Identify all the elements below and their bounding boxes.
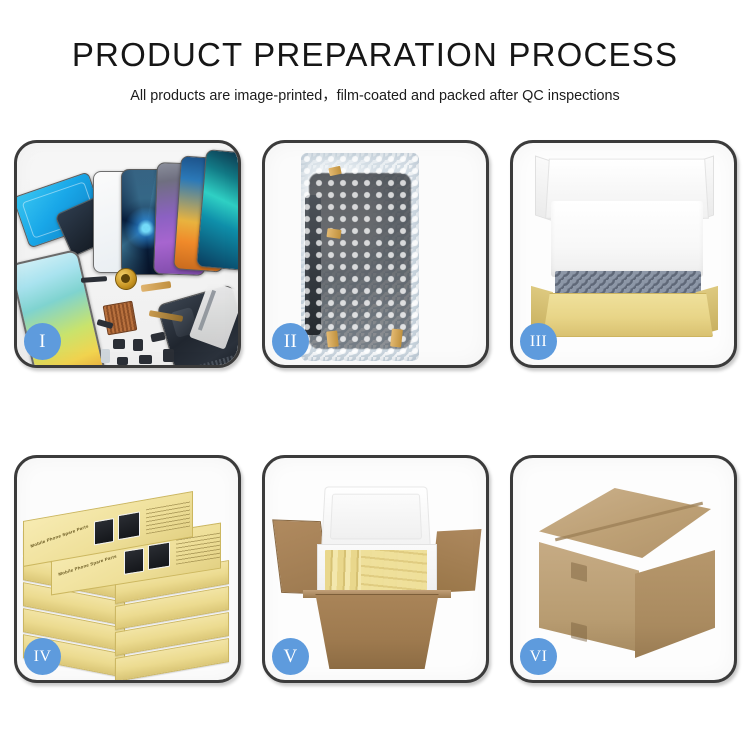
step-card-6: VI	[510, 455, 737, 683]
step-badge-3: III	[520, 323, 557, 360]
step-badge-6: VI	[520, 638, 557, 675]
kraft-box-front	[543, 293, 713, 337]
circuit-chip-part	[103, 301, 138, 336]
box-label-thumbnail	[118, 511, 140, 540]
page-subtitle: All products are image-printed，film-coat…	[0, 84, 750, 105]
box-label-thumbnail	[148, 542, 170, 570]
carton-right-face	[635, 550, 715, 658]
step-badge-5: V	[272, 638, 309, 675]
carton-tab-lower	[571, 622, 587, 642]
small-part-8	[117, 357, 128, 365]
tape-piece-2	[326, 228, 341, 239]
small-part-2	[113, 339, 125, 349]
step-badge-2: II	[272, 323, 309, 360]
process-steps-grid: I II	[14, 140, 738, 683]
step-card-3: III	[510, 140, 737, 368]
small-part-7	[163, 349, 174, 362]
yellow-boxes-inside-row2	[361, 550, 427, 592]
tape-piece-3	[326, 330, 339, 347]
page-title: PRODUCT PREPARATION PROCESS	[0, 38, 750, 73]
tape-piece-4	[390, 328, 403, 347]
box-label-spec-lines	[146, 501, 190, 535]
wrapped-phone-part	[305, 195, 321, 335]
step-card-1: I	[14, 140, 241, 368]
small-part-6	[139, 355, 152, 364]
carton-front-panel	[307, 594, 447, 669]
foam-liner	[551, 201, 703, 277]
step-card-4: Mobile Phone Spare Parts Mobile Phone Sp…	[14, 455, 241, 683]
step-card-2: II	[262, 140, 489, 368]
carton-flap-right	[431, 529, 482, 593]
product-preparation-infographic: PRODUCT PREPARATION PROCESS All products…	[0, 0, 750, 750]
box-label-thumbnail	[124, 548, 144, 575]
small-part-5	[101, 349, 110, 363]
box-label-thumbnail	[94, 518, 114, 546]
small-part-3	[133, 339, 143, 351]
box-label-text-top: Mobile Phone Spare Parts	[30, 523, 89, 548]
step-badge-4: IV	[24, 638, 61, 675]
step-badge-1: I	[24, 323, 61, 360]
foam-box-lid	[321, 487, 431, 548]
carton-left-face	[539, 542, 639, 652]
camera-lens-part	[115, 268, 137, 290]
header: PRODUCT PREPARATION PROCESS All products…	[0, 0, 750, 105]
step-card-5: V	[262, 455, 489, 683]
